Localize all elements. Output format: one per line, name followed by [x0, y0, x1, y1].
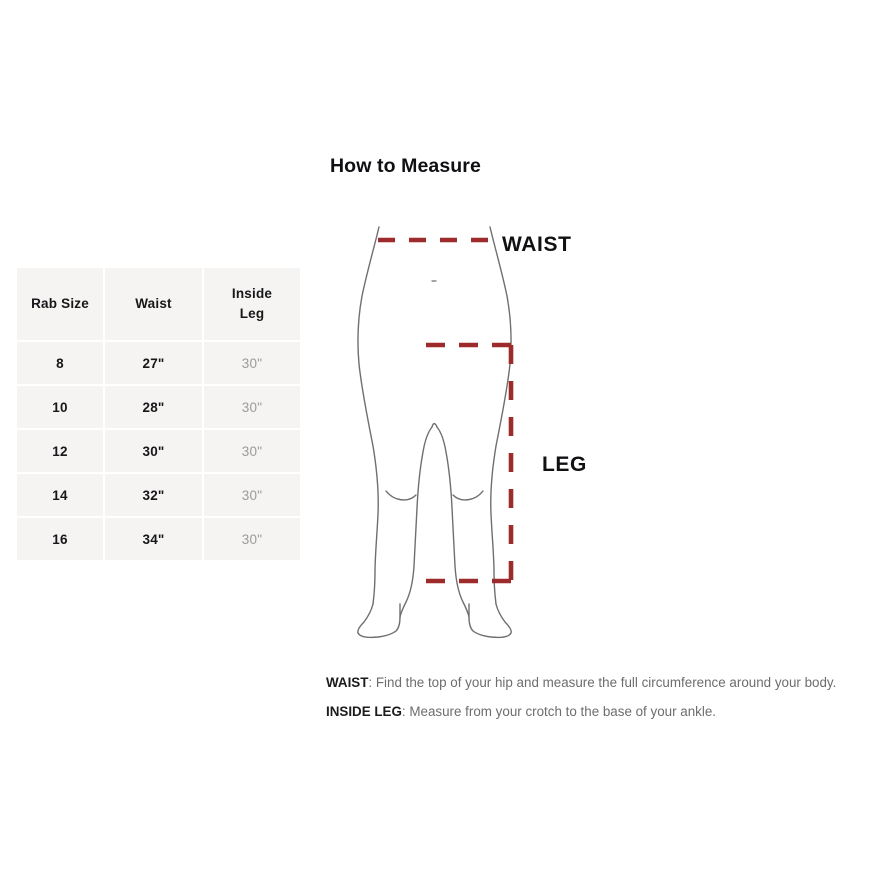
cell-inside-leg: 30"	[204, 386, 300, 428]
cell-rab-size: 16	[17, 518, 103, 560]
note-waist-text: Find the top of your hip and measure the…	[376, 675, 837, 690]
measurement-notes: WAIST: Find the top of your hip and meas…	[330, 668, 880, 726]
table-header-row: Rab Size Waist Inside Leg	[17, 268, 300, 340]
note-waist-term: WAIST	[326, 675, 368, 690]
waist-label: WAIST	[502, 233, 572, 256]
size-table-head: Rab Size Waist Inside Leg	[17, 268, 300, 340]
body-outline-icon	[358, 227, 511, 637]
how-to-measure-diagram: WAIST LEG	[330, 196, 880, 656]
note-inside-leg: INSIDE LEG: Measure from your crotch to …	[326, 697, 880, 726]
table-row: 14 32" 30"	[17, 474, 300, 516]
leg-label: LEG	[542, 453, 587, 476]
column-header-inside-leg-line1: Inside	[232, 286, 272, 301]
table-row: 16 34" 30"	[17, 518, 300, 560]
size-chart: Rab Size Waist Inside Leg 8 27" 30" 10 2…	[15, 266, 298, 562]
page-title: How to Measure	[330, 155, 481, 178]
cell-waist: 30"	[105, 430, 202, 472]
note-waist-separator: :	[368, 675, 375, 690]
cell-rab-size: 10	[17, 386, 103, 428]
cell-rab-size: 12	[17, 430, 103, 472]
column-header-rab-size: Rab Size	[17, 268, 103, 340]
cell-waist: 32"	[105, 474, 202, 516]
cell-rab-size: 8	[17, 342, 103, 384]
cell-inside-leg: 30"	[204, 518, 300, 560]
cell-inside-leg: 30"	[204, 430, 300, 472]
table-row: 12 30" 30"	[17, 430, 300, 472]
note-waist: WAIST: Find the top of your hip and meas…	[326, 668, 880, 697]
cell-rab-size: 14	[17, 474, 103, 516]
column-header-inside-leg-line2: Leg	[240, 306, 265, 321]
column-header-inside-leg: Inside Leg	[204, 268, 300, 340]
note-inside-leg-text: Measure from your crotch to the base of …	[409, 704, 716, 719]
size-table-body: 8 27" 30" 10 28" 30" 12 30" 30" 14 32"	[17, 342, 300, 560]
inside-leg-measure-bracket	[426, 345, 514, 582]
cell-waist: 27"	[105, 342, 202, 384]
table-row: 8 27" 30"	[17, 342, 300, 384]
cell-inside-leg: 30"	[204, 474, 300, 516]
note-inside-leg-term: INSIDE LEG	[326, 704, 402, 719]
size-table: Rab Size Waist Inside Leg 8 27" 30" 10 2…	[15, 266, 302, 562]
table-row: 10 28" 30"	[17, 386, 300, 428]
cell-inside-leg: 30"	[204, 342, 300, 384]
cell-waist: 34"	[105, 518, 202, 560]
column-header-waist: Waist	[105, 268, 202, 340]
size-guide-page: Rab Size Waist Inside Leg 8 27" 30" 10 2…	[0, 0, 880, 880]
cell-waist: 28"	[105, 386, 202, 428]
